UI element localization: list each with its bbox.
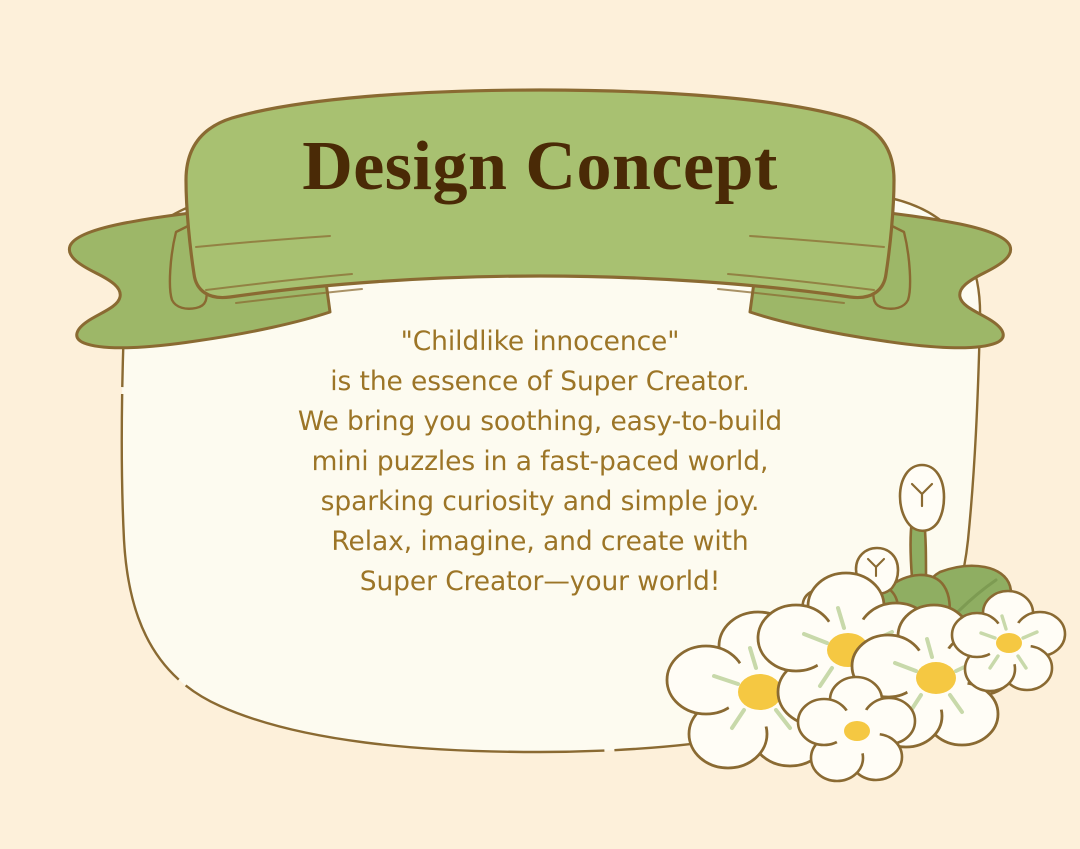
daisy-center: [916, 662, 956, 694]
poster-canvas: Design Concept "Childlike innocence" is …: [0, 0, 1080, 849]
daisy-center: [996, 633, 1022, 653]
daisy-center: [844, 721, 870, 741]
daisy-center: [738, 674, 782, 710]
flower-bud-tall: [900, 465, 944, 531]
ribbon-body: [186, 90, 894, 298]
poster-artwork: [0, 0, 1080, 849]
